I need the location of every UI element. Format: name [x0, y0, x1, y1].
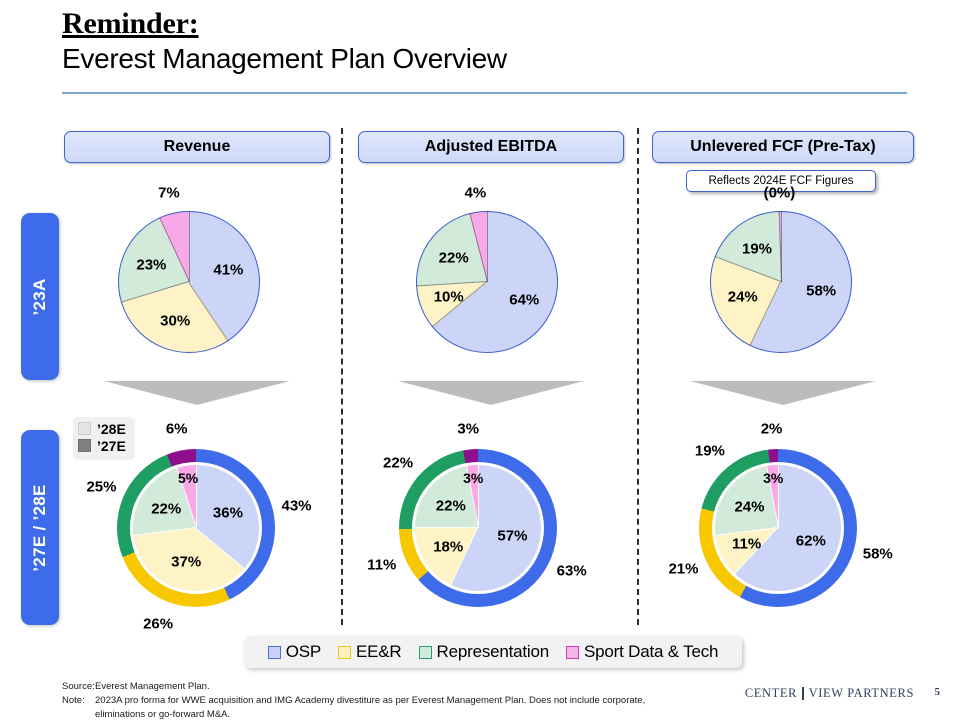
- slice-value-label: 25%: [86, 480, 116, 495]
- slice-value-label: 22%: [383, 456, 413, 471]
- column-header-revenue: Revenue: [64, 131, 330, 163]
- footnote-note-key: Note:: [62, 694, 95, 708]
- slice-value-label: 63%: [557, 563, 587, 578]
- page-eyebrow: Reminder:: [62, 8, 902, 40]
- slice-separator: [189, 211, 190, 282]
- row-label-23a-text: ’23A: [30, 278, 50, 315]
- period-legend-item-27e: ’27E: [78, 437, 126, 454]
- footnote-note-text-cont: eliminations or go-forward M&A.: [62, 708, 645, 721]
- period-legend-label-28e: ’28E: [97, 421, 126, 437]
- legend-item-sport-data-tech: Sport Data & Tech: [566, 642, 718, 662]
- legend-swatch-icon: [419, 646, 432, 659]
- legend-label: EE&R: [356, 642, 402, 662]
- footnote-note-text: 2023A pro forma for WWE acquisition and …: [95, 694, 645, 708]
- footnote-source-text: Everest Management Plan.: [95, 680, 210, 694]
- slice-value-label: 11%: [732, 537, 761, 552]
- transition-arrow-ebitda: [398, 381, 584, 405]
- slice-separator: [487, 211, 488, 282]
- footnote-source-key: Source:: [62, 680, 95, 694]
- transition-arrow-revenue: [104, 381, 290, 405]
- slice-value-label: 26%: [143, 616, 173, 631]
- slice-value-label: 7%: [158, 186, 180, 201]
- slice-value-label: 43%: [282, 498, 312, 513]
- row-label-27e-28e: ’27E / ’28E: [21, 430, 59, 625]
- footnotes: Source: Everest Management Plan. Note: 2…: [62, 680, 645, 721]
- slice-value-label: 36%: [213, 505, 243, 520]
- slice-value-label: 24%: [734, 500, 764, 515]
- slice-value-label: 41%: [213, 263, 243, 278]
- legend-swatch-icon: [268, 646, 281, 659]
- swatch-27e-icon: [78, 439, 91, 452]
- period-legend-item-28e: ’28E: [78, 420, 126, 437]
- column-header-adjusted-ebitda: Adjusted EBITDA: [358, 131, 624, 163]
- slice-value-label: 10%: [434, 290, 464, 305]
- column-header-unlevered-fcf: Unlevered FCF (Pre-Tax): [652, 131, 914, 163]
- slice-value-label: 22%: [436, 498, 466, 513]
- legend-label: Representation: [437, 642, 550, 662]
- slice-value-label: 64%: [509, 292, 539, 307]
- slice-value-label: 3%: [463, 471, 483, 485]
- legend-swatch-icon: [338, 646, 351, 659]
- slice-value-label: 19%: [695, 443, 725, 458]
- row-label-27e-28e-text: ’27E / ’28E: [30, 484, 50, 571]
- slice-value-label: (0%): [764, 186, 796, 201]
- slice-value-label: 4%: [465, 186, 487, 201]
- column-divider-2: [637, 128, 639, 625]
- period-legend: ’28E ’27E: [73, 417, 133, 458]
- slice-value-label: 3%: [457, 422, 479, 437]
- legend-label: Sport Data & Tech: [584, 642, 718, 662]
- slice-value-label: 37%: [171, 554, 201, 569]
- slice-value-label: 57%: [497, 528, 527, 543]
- legend-swatch-icon: [566, 646, 579, 659]
- period-legend-label-27e: ’27E: [97, 438, 126, 454]
- slice-value-label: 62%: [796, 533, 826, 548]
- slice-value-label: 18%: [433, 539, 463, 554]
- slice-value-label: 6%: [166, 422, 188, 437]
- legend-item-representation: Representation: [419, 642, 550, 662]
- transition-arrow-fcf: [690, 381, 876, 405]
- category-legend: OSPEE&RRepresentationSport Data & Tech: [244, 636, 742, 668]
- slice-value-label: 24%: [728, 290, 758, 305]
- legend-item-osp: OSP: [268, 642, 321, 662]
- slice-value-label: 22%: [151, 502, 181, 517]
- column-divider-1: [341, 128, 343, 625]
- footnote-source: Source: Everest Management Plan.: [62, 680, 645, 694]
- slice-value-label: 11%: [367, 557, 396, 572]
- swatch-28e-icon: [78, 422, 91, 435]
- slice-value-label: 3%: [763, 471, 783, 485]
- legend-item-ee-r: EE&R: [338, 642, 402, 662]
- title-divider: [62, 92, 907, 94]
- title-block: Reminder: Everest Management Plan Overvi…: [62, 8, 902, 77]
- brand-logo: CENTER VIEW PARTNERS: [745, 686, 914, 701]
- slice-value-label: 58%: [806, 284, 836, 299]
- page-title: Everest Management Plan Overview: [62, 42, 902, 76]
- brand-logo-right: VIEW PARTNERS: [809, 686, 914, 701]
- page-number: 5: [935, 686, 941, 698]
- brand-logo-divider-icon: [802, 687, 804, 700]
- slice-value-label: 30%: [160, 313, 190, 328]
- slice-value-label: 58%: [863, 546, 893, 561]
- row-label-23a: ’23A: [21, 213, 59, 380]
- slice-value-label: 23%: [136, 258, 166, 273]
- slice-value-label: 2%: [761, 422, 783, 437]
- slice-value-label: 22%: [439, 250, 469, 265]
- legend-label: OSP: [286, 642, 321, 662]
- slice-value-label: 21%: [668, 561, 698, 576]
- slice-separator: [415, 527, 478, 528]
- footnote-note: Note: 2023A pro forma for WWE acquisitio…: [62, 694, 645, 708]
- brand-logo-left: CENTER: [745, 686, 797, 701]
- slice-value-label: 5%: [178, 471, 198, 485]
- slice-value-label: 19%: [742, 241, 772, 256]
- slide: Reminder: Everest Management Plan Overvi…: [0, 0, 960, 720]
